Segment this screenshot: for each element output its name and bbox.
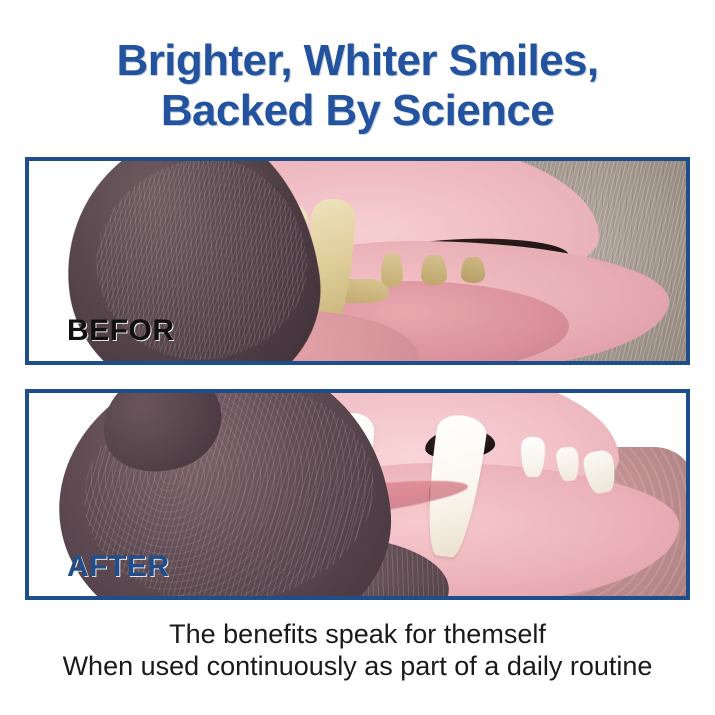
headline-line-2: Backed By Science: [0, 86, 715, 136]
before-panel: BEFOR: [25, 157, 690, 365]
before-lower-tooth-3: [461, 257, 485, 283]
headline-line-1: Brighter, Whiter Smiles,: [0, 36, 715, 86]
before-label: BEFOR: [67, 314, 175, 348]
advertisement-canvas: Brighter, Whiter Smiles, Backed By Scien…: [0, 0, 715, 715]
before-lower-tooth-2: [421, 255, 447, 285]
after-label: AFTER: [67, 550, 170, 584]
after-small-tooth-1: [521, 437, 545, 477]
page-title: Brighter, Whiter Smiles, Backed By Scien…: [0, 36, 715, 136]
caption-text: The benefits speak for themself When use…: [0, 618, 715, 682]
caption-line-1: The benefits speak for themself: [0, 618, 715, 650]
caption-line-2: When used continuously as part of a dail…: [0, 650, 715, 682]
before-lower-tooth-1: [381, 253, 403, 287]
after-panel: AFTER: [25, 389, 690, 600]
